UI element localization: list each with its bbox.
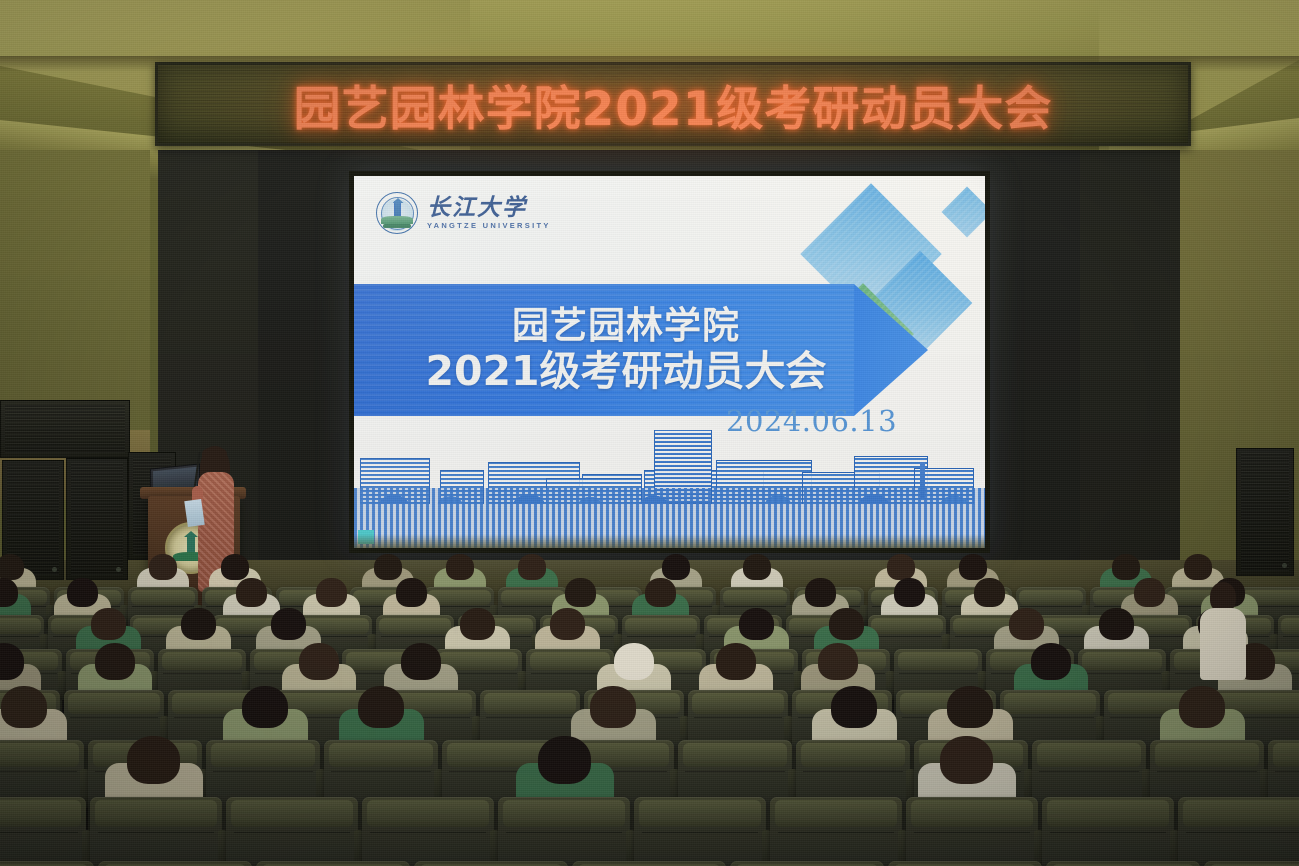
- audience-head: [1099, 608, 1134, 640]
- audience-head: [565, 578, 596, 607]
- audience-head: [1134, 578, 1165, 607]
- auditorium-seat: [888, 861, 1042, 866]
- auditorium-seat: [256, 861, 410, 866]
- audience-head: [221, 554, 249, 580]
- led-banner: 园艺园林学院2021级考研动员大会: [155, 62, 1191, 146]
- audience-head: [236, 578, 267, 607]
- audience-seating: [0, 540, 1299, 866]
- audience-head: [1, 686, 47, 728]
- presentation-slide: 长江大学 YANGTZE UNIVERSITY 园艺园林学院 2021级考研动: [354, 176, 985, 548]
- audience-head: [550, 608, 585, 640]
- diamond-accent-small: [942, 187, 985, 238]
- audience-head: [940, 736, 993, 784]
- audience-head: [401, 643, 441, 680]
- audience-head: [460, 608, 495, 640]
- audience-head: [818, 643, 858, 680]
- auditorium-seat: [1046, 861, 1200, 866]
- audience-head: [242, 686, 288, 728]
- audience-head: [396, 578, 427, 607]
- slide-title-line-1: 园艺园林学院: [512, 305, 740, 346]
- audience-head: [181, 608, 216, 640]
- auditorium-seat: [414, 861, 568, 866]
- audience-head: [739, 608, 774, 640]
- auditorium-seat: [98, 861, 252, 866]
- audience-head: [0, 554, 24, 580]
- audience-head: [149, 554, 177, 580]
- audience-head: [358, 686, 404, 728]
- audience-head: [716, 643, 756, 680]
- audience-head: [887, 554, 915, 580]
- audience-head: [95, 643, 135, 680]
- audience-head: [743, 554, 771, 580]
- audience-head: [894, 578, 925, 607]
- audience-head: [1184, 554, 1212, 580]
- led-banner-text: 园艺园林学院2021级考研动员大会: [294, 70, 1053, 139]
- audience-head: [446, 554, 474, 580]
- projection-screen-frame: 长江大学 YANGTZE UNIVERSITY 园艺园林学院 2021级考研动: [349, 171, 990, 553]
- audience-head: [662, 554, 690, 580]
- standing-person-right: [1196, 582, 1250, 702]
- auditorium-seat: [572, 861, 726, 866]
- audience-head: [831, 686, 877, 728]
- projection-screen: 长江大学 YANGTZE UNIVERSITY 园艺园林学院 2021级考研动: [354, 176, 985, 548]
- university-seal-icon: [376, 192, 418, 234]
- audience-head: [590, 686, 636, 728]
- audience-head: [91, 608, 126, 640]
- audience-head: [127, 736, 180, 784]
- person-with-white-cap: [614, 643, 654, 680]
- logo-chinese-name: 长江大学: [427, 196, 551, 219]
- slide-title-line-2: 2021级考研动员大会: [425, 349, 826, 395]
- auditorium-photo: 园艺园林学院2021级考研动员大会 长江大学 YANGTZE UNIVERSIT…: [0, 0, 1299, 866]
- university-logo: 长江大学 YANGTZE UNIVERSITY: [376, 192, 551, 234]
- campus-skyline-illustration: [354, 430, 985, 548]
- seat-row: [0, 826, 1299, 866]
- audience-head: [1112, 554, 1140, 580]
- audience-head: [299, 643, 339, 680]
- stage-backdrop-right: [1080, 150, 1180, 605]
- auditorium-seat: [1204, 861, 1299, 866]
- audience-head: [538, 736, 591, 784]
- audience-head: [1031, 643, 1071, 680]
- audience-head: [1009, 608, 1044, 640]
- audience-head: [67, 578, 98, 607]
- pa-speaker-stack-left: [0, 400, 130, 458]
- printed-speech-notes: [184, 499, 204, 527]
- auditorium-seat: [0, 861, 94, 866]
- audience-head: [374, 554, 402, 580]
- audience-head: [805, 578, 836, 607]
- audience-head: [518, 554, 546, 580]
- logo-english-name: YANGTZE UNIVERSITY: [427, 222, 551, 230]
- slide-title-group: 园艺园林学院 2021级考研动员大会: [354, 284, 914, 416]
- audience-head: [947, 686, 993, 728]
- audience-head: [959, 554, 987, 580]
- audience-head: [645, 578, 676, 607]
- audience-head: [316, 578, 347, 607]
- audience-head: [829, 608, 864, 640]
- auditorium-seat: [730, 861, 884, 866]
- audience-head: [271, 608, 306, 640]
- audience-head: [974, 578, 1005, 607]
